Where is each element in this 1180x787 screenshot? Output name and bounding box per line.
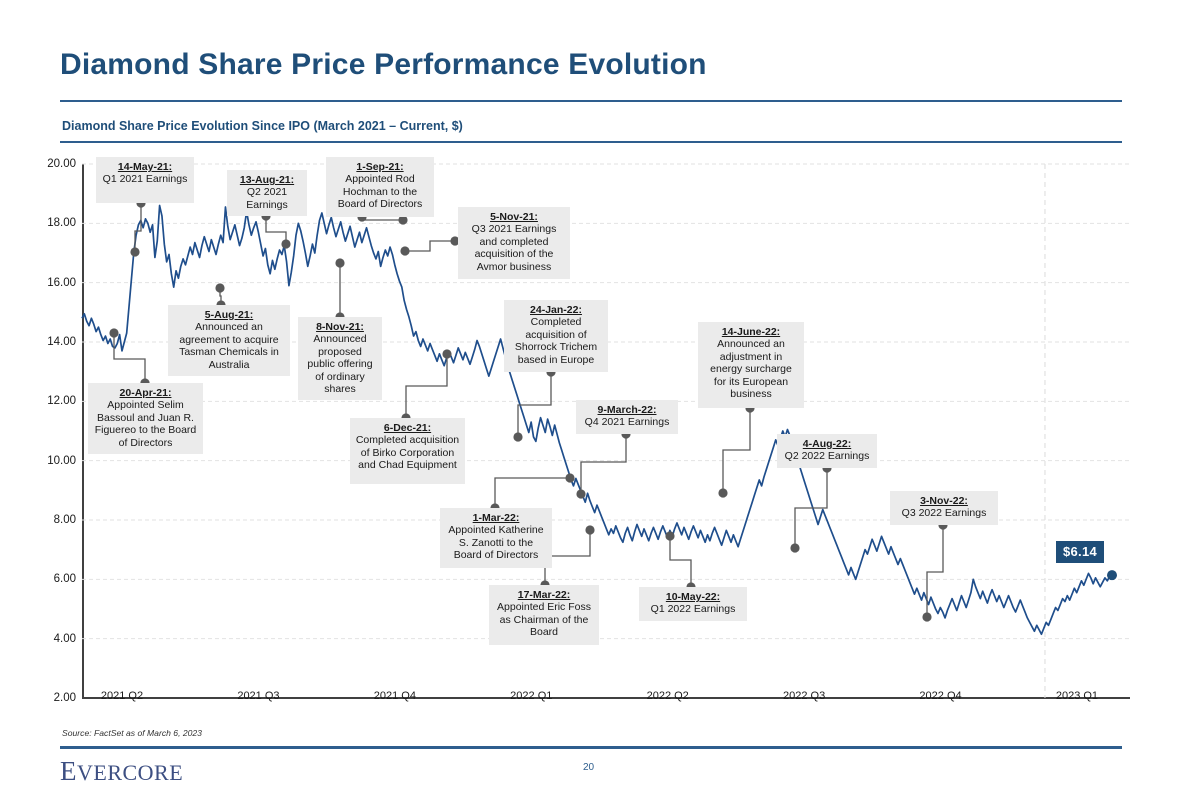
y-axis-tick-label: 14.00: [16, 336, 76, 348]
annotation-text: Announced proposed public offering of or…: [303, 333, 377, 395]
annotation-date: 13-Aug-21:: [232, 174, 302, 186]
annotation-text: Q1 2022 Earnings: [644, 603, 742, 615]
annotation-date: 5-Aug-21:: [173, 309, 285, 321]
annotation-text: Q2 2022 Earnings: [782, 450, 872, 462]
annotation-point-dot: [718, 488, 727, 497]
y-axis-tick-label: 8.00: [16, 514, 76, 526]
x-axis-tick-label: 2022 Q3: [783, 690, 825, 702]
x-axis-tick-label: 2021 Q3: [237, 690, 279, 702]
page-number: 20: [583, 762, 594, 773]
annotation-point-dot: [215, 283, 224, 292]
chart-subtitle: Diamond Share Price Evolution Since IPO …: [62, 119, 463, 133]
annotation-point-dot: [585, 525, 594, 534]
x-axis-tick-label: 2021 Q4: [374, 690, 416, 702]
annotation-date: 10-May-22:: [644, 591, 742, 603]
annotation-point-dot: [442, 349, 451, 358]
annotation-date: 1-Mar-22:: [445, 512, 547, 524]
y-axis-tick-label: 2.00: [16, 692, 76, 704]
annotation-date: 1-Sep-21:: [331, 161, 429, 173]
annotation-leader-line: [406, 354, 447, 418]
annotation-callout: 5-Aug-21:Announced an agreement to acqui…: [168, 305, 290, 376]
annotation-text: Q3 2021 Earnings and completed acquisiti…: [463, 223, 565, 273]
annotation-leader-line: [405, 241, 455, 251]
y-axis-tick-label: 10.00: [16, 455, 76, 467]
annotation-point-dot: [130, 247, 139, 256]
y-axis-tick-label: 6.00: [16, 573, 76, 585]
annotation-leader-line: [723, 408, 750, 493]
annotation-date: 9-March-22:: [581, 404, 673, 416]
annotation-leader-line: [495, 478, 570, 508]
annotation-callout: 5-Nov-21:Q3 2021 Earnings and completed …: [458, 207, 570, 279]
annotation-leader-line: [266, 216, 286, 244]
slide-root: Diamond Share Price Performance Evolutio…: [0, 0, 1180, 786]
y-axis-tick-label: 12.00: [16, 395, 76, 407]
annotation-callout: 20-Apr-21:Appointed Selim Bassoul and Ju…: [88, 383, 203, 454]
annotation-point-dot: [400, 246, 409, 255]
title-divider: [60, 100, 1122, 102]
annotation-text: Appointed Rod Hochman to the Board of Di…: [331, 173, 429, 210]
annotation-callout: 10-May-22:Q1 2022 Earnings: [639, 587, 747, 621]
annotation-point-dot: [922, 612, 931, 621]
annotation-text: Appointed Selim Bassoul and Juan R. Figu…: [93, 399, 198, 449]
annotation-point-dot: [665, 531, 674, 540]
annotation-callout: 1-Sep-21:Appointed Rod Hochman to the Bo…: [326, 157, 434, 217]
x-axis-tick-label: 2023 Q1: [1056, 690, 1098, 702]
annotation-date: 3-Nov-22:: [895, 495, 993, 507]
annotation-date: 20-Apr-21:: [93, 387, 198, 399]
annotation-text: Appointed Katherine S. Zanotti to the Bo…: [445, 524, 547, 561]
annotation-text: Q2 2021 Earnings: [232, 186, 302, 211]
annotation-date: 4-Aug-22:: [782, 438, 872, 450]
annotation-text: Announced an adjustment in energy surcha…: [703, 338, 799, 400]
annotation-callout: 6-Dec-21:Completed acquisition of Birko …: [350, 418, 465, 484]
annotation-leader-line: [362, 217, 403, 220]
annotation-callout: 1-Mar-22:Appointed Katherine S. Zanotti …: [440, 508, 552, 568]
annotation-callout: 3-Nov-22:Q3 2022 Earnings: [890, 491, 998, 525]
annotation-point-dot: [109, 328, 118, 337]
annotation-callout: 9-March-22:Q4 2021 Earnings: [576, 400, 678, 434]
x-axis-tick-label: 2021 Q2: [101, 690, 143, 702]
annotation-text: Appointed Eric Foss as Chairman of the B…: [494, 601, 594, 638]
y-axis-tick-label: 18.00: [16, 217, 76, 229]
annotation-point-dot: [281, 239, 290, 248]
annotation-callout: 4-Aug-22:Q2 2022 Earnings: [777, 434, 877, 468]
annotation-date: 24-Jan-22:: [509, 304, 603, 316]
footer-divider: [60, 746, 1122, 749]
annotation-text: Announced an agreement to acquire Tasman…: [173, 321, 285, 371]
annotation-leader-line: [795, 468, 827, 548]
annotation-callout: 13-Aug-21:Q2 2021 Earnings: [227, 170, 307, 216]
page-title: Diamond Share Price Performance Evolutio…: [60, 48, 1130, 82]
annotation-date: 6-Dec-21:: [355, 422, 460, 434]
annotation-date: 14-May-21:: [101, 161, 189, 173]
annotation-point-dot: [790, 543, 799, 552]
subtitle-divider: [60, 141, 1122, 143]
annotation-date: 5-Nov-21:: [463, 211, 565, 223]
annotation-text: Completed acquisition of Birko Corporati…: [355, 434, 460, 471]
annotation-date: 8-Nov-21:: [303, 321, 377, 333]
annotation-point-dot: [576, 489, 585, 498]
last-price-marker: [1107, 570, 1117, 580]
annotation-text: Q3 2022 Earnings: [895, 507, 993, 519]
annotation-date: 17-Mar-22:: [494, 589, 594, 601]
last-price-badge: $6.14: [1056, 541, 1104, 563]
y-axis-tick-label: 20.00: [16, 158, 76, 170]
x-axis-tick-label: 2022 Q1: [510, 690, 552, 702]
annotation-callout: 14-May-21:Q1 2021 Earnings: [96, 157, 194, 203]
annotation-callout: 14-June-22:Announced an adjustment in en…: [698, 322, 804, 408]
y-axis-tick-label: 4.00: [16, 633, 76, 645]
annotation-point-dot: [513, 432, 522, 441]
annotation-callout: 24-Jan-22:Completed acquisition of Shorr…: [504, 300, 608, 372]
annotation-text: Q1 2021 Earnings: [101, 173, 189, 185]
annotation-text: Completed acquisition of Shorrock Triche…: [509, 316, 603, 366]
y-axis-tick-label: 16.00: [16, 277, 76, 289]
annotation-date: 14-June-22:: [703, 326, 799, 338]
x-axis-tick-label: 2022 Q2: [647, 690, 689, 702]
source-note: Source: FactSet as of March 6, 2023: [62, 728, 202, 738]
chart-container: 20.0018.0016.0014.0012.0010.008.006.004.…: [0, 150, 1180, 710]
annotation-point-dot: [335, 258, 344, 267]
annotation-leader-line: [581, 434, 626, 494]
brand-logo: EVERCORE: [60, 756, 183, 787]
annotation-callout: 17-Mar-22:Appointed Eric Foss as Chairma…: [489, 585, 599, 645]
annotation-text: Q4 2021 Earnings: [581, 416, 673, 428]
annotation-point-dot: [565, 473, 574, 482]
x-axis-tick-label: 2022 Q4: [919, 690, 961, 702]
annotation-callout: 8-Nov-21:Announced proposed public offer…: [298, 317, 382, 400]
